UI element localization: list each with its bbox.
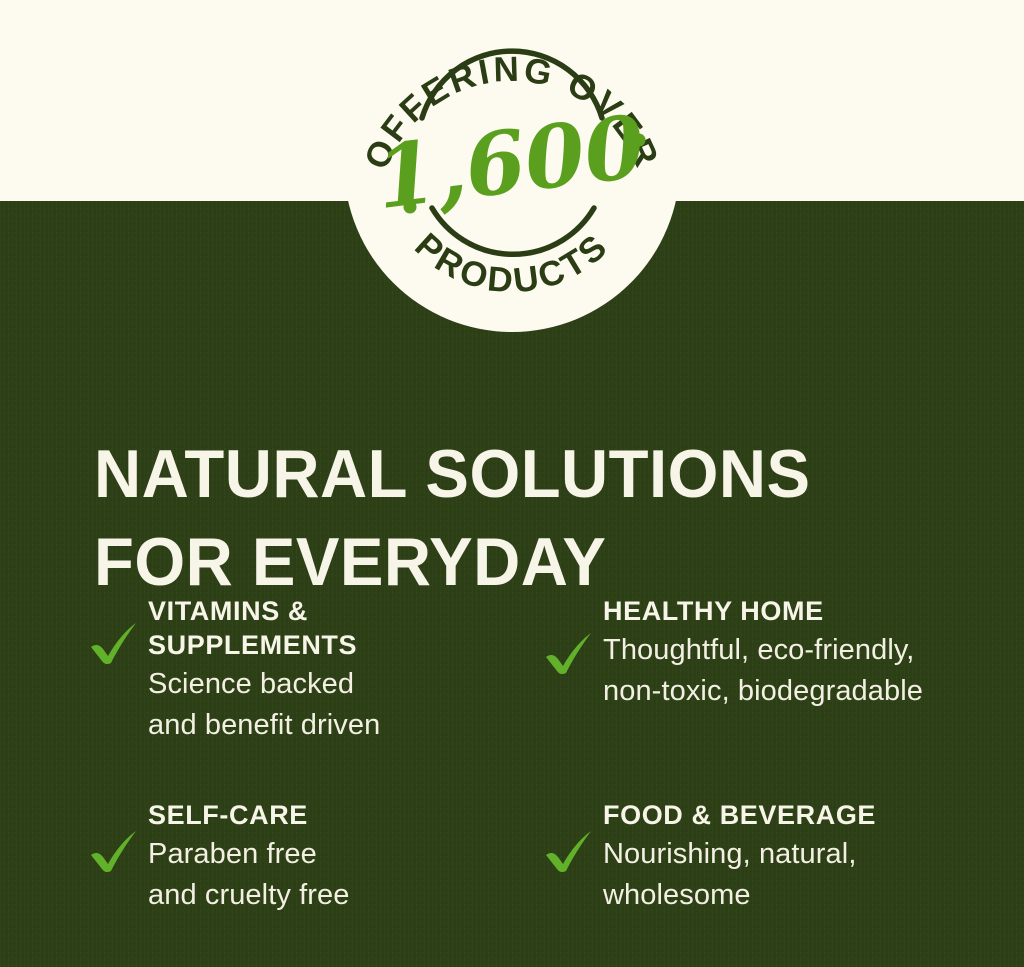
- badge-bottom-arc-text: PRODUCTS: [408, 226, 617, 301]
- check-icon: [543, 828, 595, 874]
- feature-title: FOOD & BEVERAGE: [603, 798, 876, 832]
- check-icon: [543, 630, 595, 676]
- feature-item-healthy-home: HEALTHY HOME Thoughtful, eco-friendly, n…: [543, 594, 1008, 746]
- feature-description-line: and cruelty free: [148, 875, 350, 916]
- feature-description-line: Nourishing, natural,: [603, 834, 876, 875]
- feature-list: VITAMINS & SUPPLEMENTS Science backed an…: [0, 594, 1024, 938]
- feature-description-line: non-toxic, biodegradable: [603, 671, 923, 712]
- feature-title: HEALTHY HOME: [603, 594, 903, 628]
- check-icon: [88, 620, 140, 666]
- feature-text: HEALTHY HOME Thoughtful, eco-friendly, n…: [603, 594, 923, 712]
- headline-line-1: NATURAL SOLUTIONS: [94, 430, 939, 518]
- feature-title: SELF-CARE: [148, 798, 350, 832]
- feature-text: FOOD & BEVERAGE Nourishing, natural, who…: [603, 798, 876, 916]
- check-icon: [88, 828, 140, 874]
- promotional-banner: OFFERING OVER PRODUCTS 1,600 NATURAL SOL…: [0, 0, 1024, 967]
- feature-description-line: Paraben free: [148, 834, 350, 875]
- badge: OFFERING OVER PRODUCTS 1,600: [344, 0, 680, 332]
- feature-description: Science backed and benefit driven: [148, 664, 448, 746]
- feature-description-line: Thoughtful, eco-friendly,: [603, 630, 923, 671]
- feature-description-line: wholesome: [603, 875, 876, 916]
- feature-item-self-care: SELF-CARE Paraben free and cruelty free: [88, 798, 543, 938]
- feature-description: Thoughtful, eco-friendly, non-toxic, bio…: [603, 630, 923, 712]
- feature-title: VITAMINS & SUPPLEMENTS: [148, 594, 448, 662]
- feature-item-vitamins-supplements: VITAMINS & SUPPLEMENTS Science backed an…: [88, 594, 543, 746]
- feature-description-line: and benefit driven: [148, 705, 448, 746]
- headline-line-2: FOR EVERYDAY: [94, 518, 939, 606]
- feature-item-food-beverage: FOOD & BEVERAGE Nourishing, natural, who…: [543, 798, 1008, 938]
- page-title: NATURAL SOLUTIONS FOR EVERYDAY: [94, 430, 939, 606]
- feature-description: Paraben free and cruelty free: [148, 834, 350, 916]
- feature-description: Nourishing, natural, wholesome: [603, 834, 876, 916]
- feature-text: SELF-CARE Paraben free and cruelty free: [148, 798, 350, 916]
- feature-description-line: Science backed: [148, 664, 448, 705]
- feature-text: VITAMINS & SUPPLEMENTS Science backed an…: [148, 594, 448, 746]
